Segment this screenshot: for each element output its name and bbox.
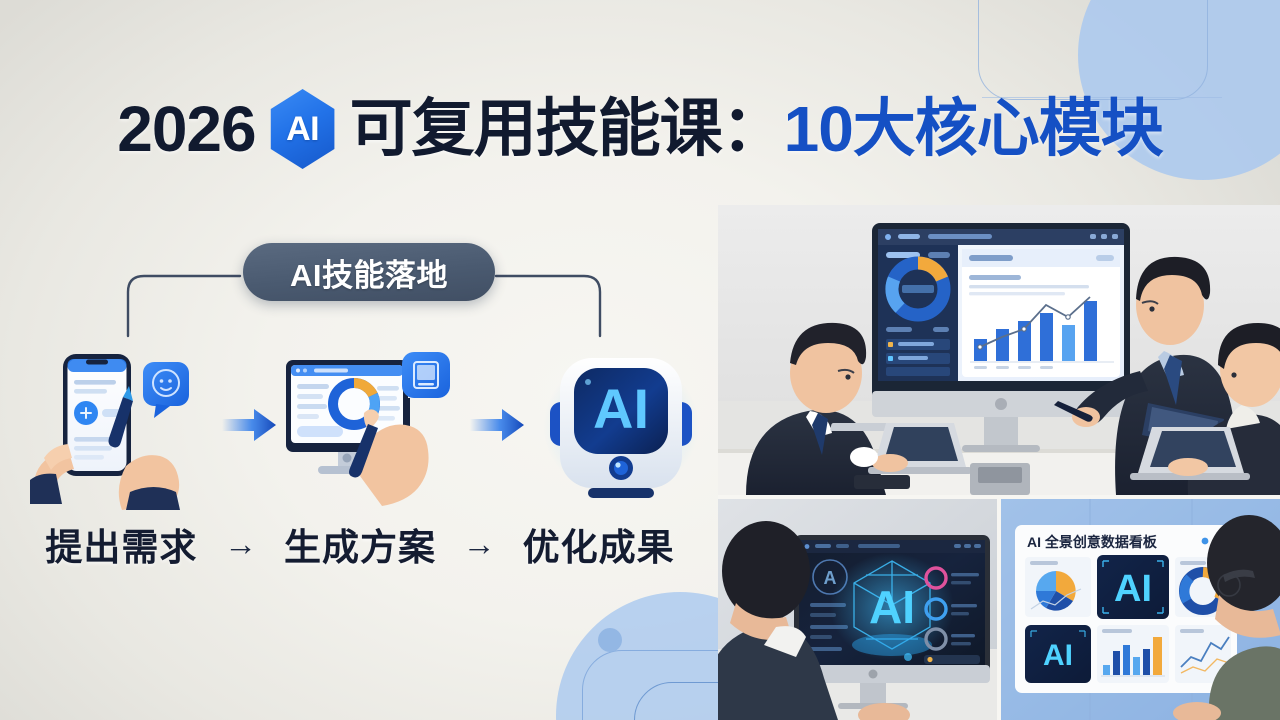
svg-text:AI: AI (869, 581, 915, 633)
monitor-chart-hand-icon (278, 340, 468, 510)
status-badge: AI技能落地 (243, 243, 495, 301)
flow-captions: 提出需求 → 生成方案 → 优化成果 (30, 516, 690, 572)
ai-hologram-illustration: A AI (718, 499, 997, 720)
title-year: 2026 (117, 97, 255, 161)
ai-robot-icon: AI (526, 340, 716, 510)
badge-label: AI技能落地 (290, 250, 448, 295)
meeting-room-illustration (718, 205, 1280, 495)
hands-phone-stylus-icon (30, 340, 220, 510)
arrow-right-icon (468, 405, 526, 445)
ai-board-illustration: AI 全景创意数据看板 (1001, 499, 1280, 720)
page-title: 2026 AI 可复用技能课： 10 大核心模块 (0, 86, 1280, 172)
flow-arrow-2 (468, 405, 526, 445)
title-main-dark: 可复用技能课： (350, 98, 784, 161)
caption-step-2: 生成方案 (269, 517, 452, 571)
decor-rounded-frame-top-right (978, 0, 1208, 100)
caption-step-1: 提出需求 (30, 517, 213, 571)
caption-arrow-2: → (451, 525, 507, 563)
arrow-right-icon (220, 405, 278, 445)
photo-gallery: A AI (718, 205, 1280, 720)
step-illustration-request (30, 340, 220, 510)
svg-text:AI: AI (593, 377, 649, 440)
title-highlight-number: 10 (784, 97, 853, 161)
step-illustration-optimize: AI (526, 340, 716, 510)
caption-step-3: 优化成果 (507, 517, 690, 571)
photo-meeting-dashboard (718, 205, 1280, 495)
ai-hexagon-logo-icon: AI (266, 89, 340, 169)
photo-ai-board: AI 全景创意数据看板 (1001, 499, 1280, 720)
decor-dot-bottom (598, 628, 622, 652)
svg-text:AI: AI (1043, 639, 1073, 672)
caption-arrow-1: → (213, 525, 269, 563)
photo-bottom-row: A AI (718, 499, 1280, 720)
step-illustration-generate (278, 340, 468, 510)
svg-text:AI: AI (1114, 568, 1152, 610)
ai-logo-label: AI (286, 110, 319, 149)
poster-canvas: 2026 AI 可复用技能课： 10 大核心模块 AI技能落地 (0, 0, 1280, 720)
title-highlight-text: 大核心模块 (853, 98, 1163, 161)
flow-arrow-1 (220, 405, 278, 445)
svg-text:AI 全景创意数据看板: AI 全景创意数据看板 (1027, 534, 1158, 550)
photo-ai-hologram: A AI (718, 499, 997, 720)
svg-text:A: A (824, 568, 837, 588)
flow-steps: AI (30, 340, 690, 510)
